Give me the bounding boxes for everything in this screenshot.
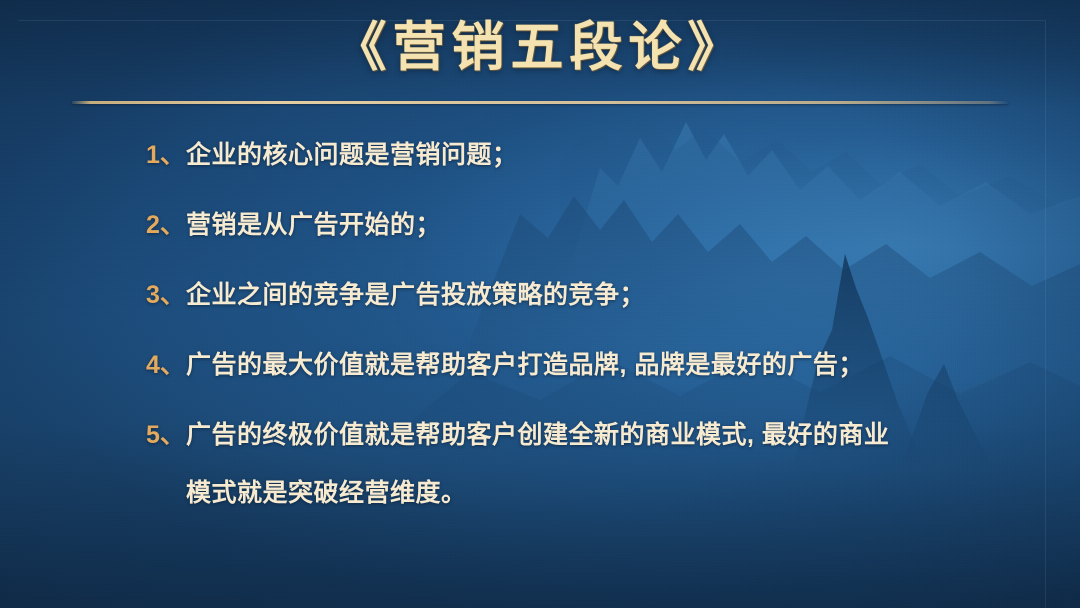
list-item-text-line1: 广告的终极价值就是帮助客户创建全新的商业模式, 最好的商业 [186, 421, 889, 449]
list-item-number: 1、 [146, 126, 186, 184]
list-item-text: 广告的终极价值就是帮助客户创建全新的商业模式, 最好的商业 模式就是突破经营维度… [186, 406, 1046, 522]
list-item: 4、 广告的最大价值就是帮助客户打造品牌, 品牌是最好的广告； [146, 336, 1046, 394]
list-item: 3、 企业之间的竞争是广告投放策略的竞争； [146, 266, 1046, 324]
list-item: 2、 营销是从广告开始的； [146, 196, 1046, 254]
list-item: 1、 企业的核心问题是营销问题； [146, 126, 1046, 184]
title-block: 《营销五段论》 [0, 16, 1080, 79]
list-item-text: 广告的最大价值就是帮助客户打造品牌, 品牌是最好的广告； [186, 336, 1046, 394]
presentation-slide: 《营销五段论》 1、 企业的核心问题是营销问题； 2、 营销是从广告开始的； 3… [0, 0, 1080, 608]
page-title: 《营销五段论》 [334, 16, 747, 79]
points-list: 1、 企业的核心问题是营销问题； 2、 营销是从广告开始的； 3、 企业之间的竞… [146, 126, 1046, 534]
list-item-text: 营销是从广告开始的； [186, 196, 1046, 254]
list-item-text: 企业之间的竞争是广告投放策略的竞争； [186, 266, 1046, 324]
gold-divider [72, 101, 1008, 104]
list-item-number: 2、 [146, 196, 186, 254]
list-item-text-line2: 模式就是突破经营维度。 [186, 464, 1046, 522]
list-item-number: 4、 [146, 336, 186, 394]
list-item: 5、 广告的终极价值就是帮助客户创建全新的商业模式, 最好的商业 模式就是突破经… [146, 406, 1046, 522]
list-item-number: 5、 [146, 406, 186, 464]
list-item-text: 企业的核心问题是营销问题； [186, 126, 1046, 184]
list-item-number: 3、 [146, 266, 186, 324]
